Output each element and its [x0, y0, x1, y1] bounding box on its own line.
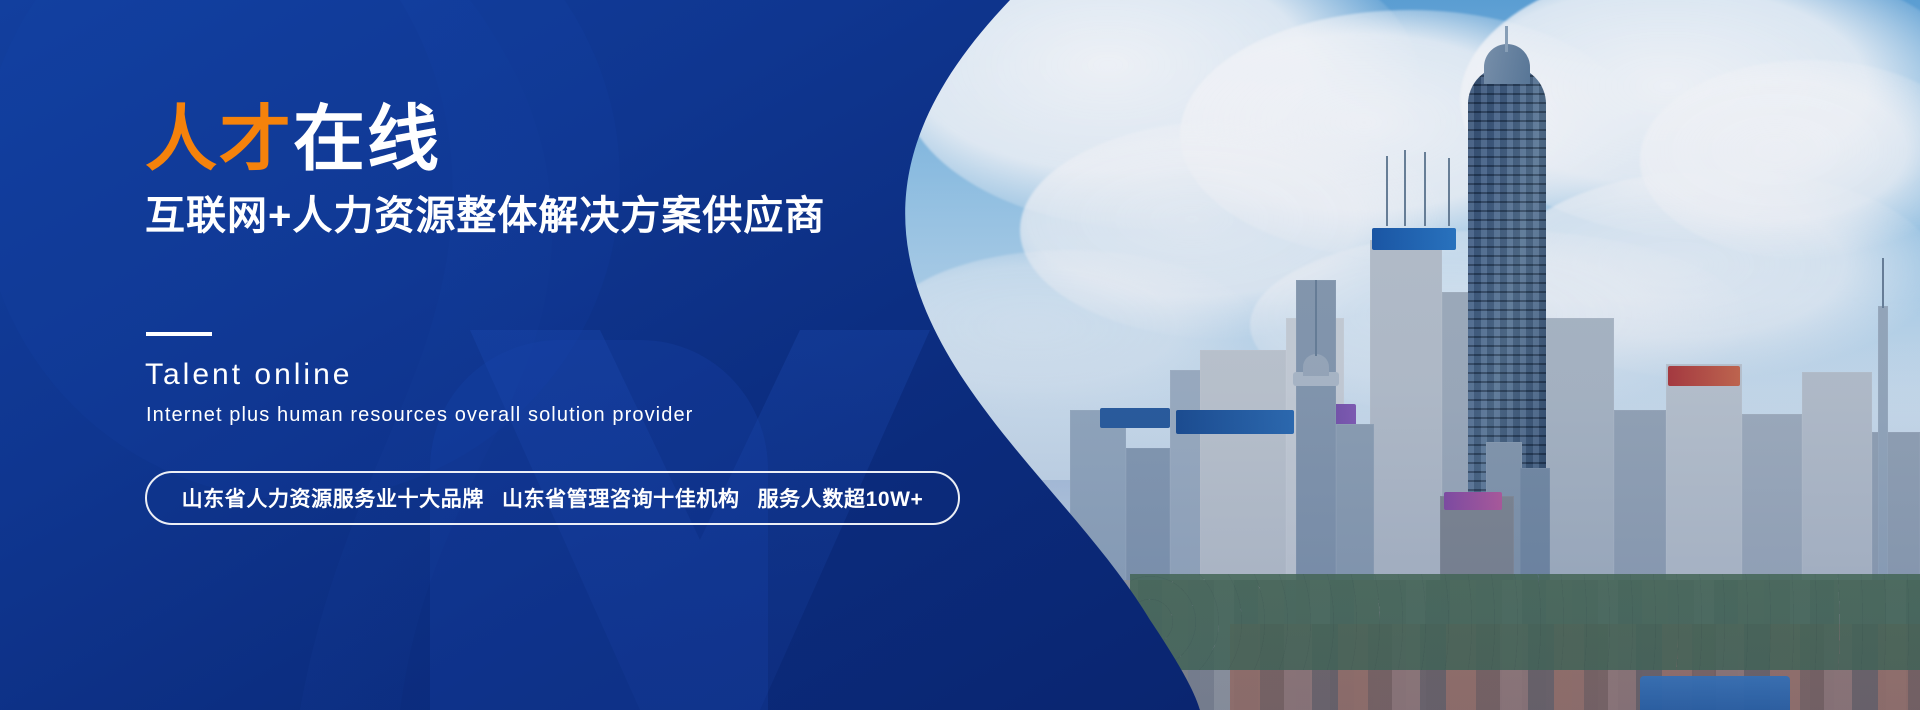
- badge-item-3: 服务人数超10W+: [758, 488, 924, 511]
- status-badge: 山东省人力资源服务业十大品牌山东省管理咨询十佳机构服务人数超10W+: [145, 471, 960, 525]
- page-subtitle: 互联网+人力资源整体解决方案供应商: [145, 196, 825, 236]
- english-subtitle: Internet plus human resources overall so…: [146, 403, 693, 427]
- badge-text: 山东省人力资源服务业十大品牌山东省管理咨询十佳机构服务人数超10W+: [182, 483, 924, 513]
- title-highlight: 人才: [145, 100, 293, 180]
- english-title: Talent online: [145, 358, 352, 391]
- title-rest: 在线: [293, 100, 441, 180]
- badge-item-2: 山东省管理咨询十佳机构: [502, 488, 740, 511]
- badge-item-1: 山东省人力资源服务业十大品牌: [182, 488, 484, 511]
- hero-banner: 人才在线 互联网+人力资源整体解决方案供应商 Talent online Int…: [0, 0, 1920, 710]
- banner-content: 人才在线 互联网+人力资源整体解决方案供应商 Talent online Int…: [0, 0, 1000, 710]
- page-title: 人才在线: [145, 104, 441, 176]
- divider: [146, 332, 212, 336]
